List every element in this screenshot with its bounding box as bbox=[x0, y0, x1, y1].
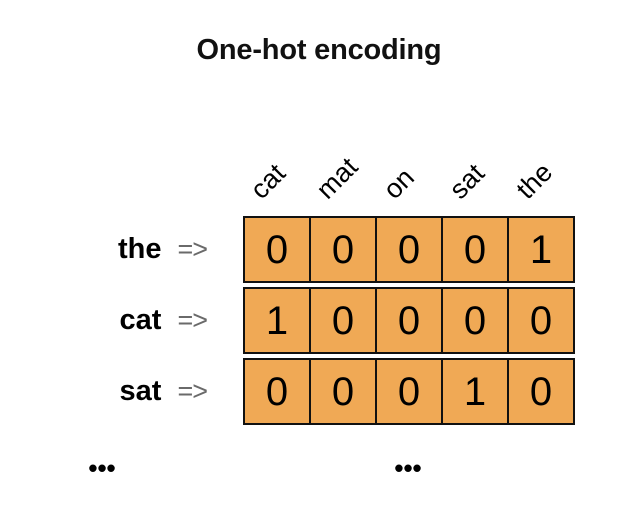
maps-to-arrow-icon: => bbox=[177, 307, 207, 334]
column-header-label: sat bbox=[445, 159, 490, 204]
matrix-cell: 0 bbox=[310, 287, 376, 354]
matrix-cell: 0 bbox=[243, 358, 310, 425]
matrix-cell: 1 bbox=[508, 216, 575, 283]
matrix-cell: 0 bbox=[310, 358, 376, 425]
matrix-cell: 0 bbox=[376, 216, 442, 283]
column-header-sat: sat bbox=[442, 116, 508, 206]
page-title: One-hot encoding bbox=[0, 36, 638, 65]
matrix-cell: 0 bbox=[376, 358, 442, 425]
matrix-cell: 0 bbox=[508, 358, 575, 425]
matrix-cell: 0 bbox=[508, 287, 575, 354]
matrix-cell: 0 bbox=[310, 216, 376, 283]
column-header-label: on bbox=[379, 164, 419, 204]
matrix-cell: 0 bbox=[442, 216, 508, 283]
column-header-label: mat bbox=[312, 153, 363, 204]
column-header-cat: cat bbox=[243, 116, 309, 206]
matrix-row: 0 0 0 1 0 bbox=[243, 358, 575, 425]
one-hot-matrix: 0 0 0 0 1 1 0 0 0 0 0 0 0 1 0 bbox=[243, 216, 575, 418]
row-label-cat: cat => bbox=[0, 287, 225, 354]
matrix-row: 1 0 0 0 0 bbox=[243, 287, 575, 354]
row-label-word: sat bbox=[120, 377, 162, 406]
matrix-cell: 1 bbox=[243, 287, 310, 354]
matrix-ellipsis: ••• bbox=[394, 455, 421, 481]
row-label-column: the => cat => sat => bbox=[0, 216, 243, 418]
maps-to-arrow-icon: => bbox=[177, 236, 207, 263]
row-labels-ellipsis: ••• bbox=[88, 455, 115, 481]
matrix-cell: 1 bbox=[442, 358, 508, 425]
matrix-cell: 0 bbox=[442, 287, 508, 354]
matrix-cell: 0 bbox=[243, 216, 310, 283]
column-header-row: cat mat on sat the bbox=[243, 116, 575, 206]
row-label-the: the => bbox=[0, 216, 225, 283]
column-header-label: the bbox=[512, 158, 558, 204]
matrix-row: 0 0 0 0 1 bbox=[243, 216, 575, 283]
figure-canvas: One-hot encoding cat mat on sat the the … bbox=[0, 0, 638, 522]
row-label-sat: sat => bbox=[0, 358, 225, 425]
row-label-word: the bbox=[118, 235, 162, 264]
matrix-cell: 0 bbox=[376, 287, 442, 354]
column-header-mat: mat bbox=[309, 116, 375, 206]
column-header-the: the bbox=[509, 116, 575, 206]
column-header-label: cat bbox=[246, 159, 291, 204]
row-label-word: cat bbox=[120, 306, 162, 335]
maps-to-arrow-icon: => bbox=[177, 378, 207, 405]
column-header-on: on bbox=[376, 116, 442, 206]
